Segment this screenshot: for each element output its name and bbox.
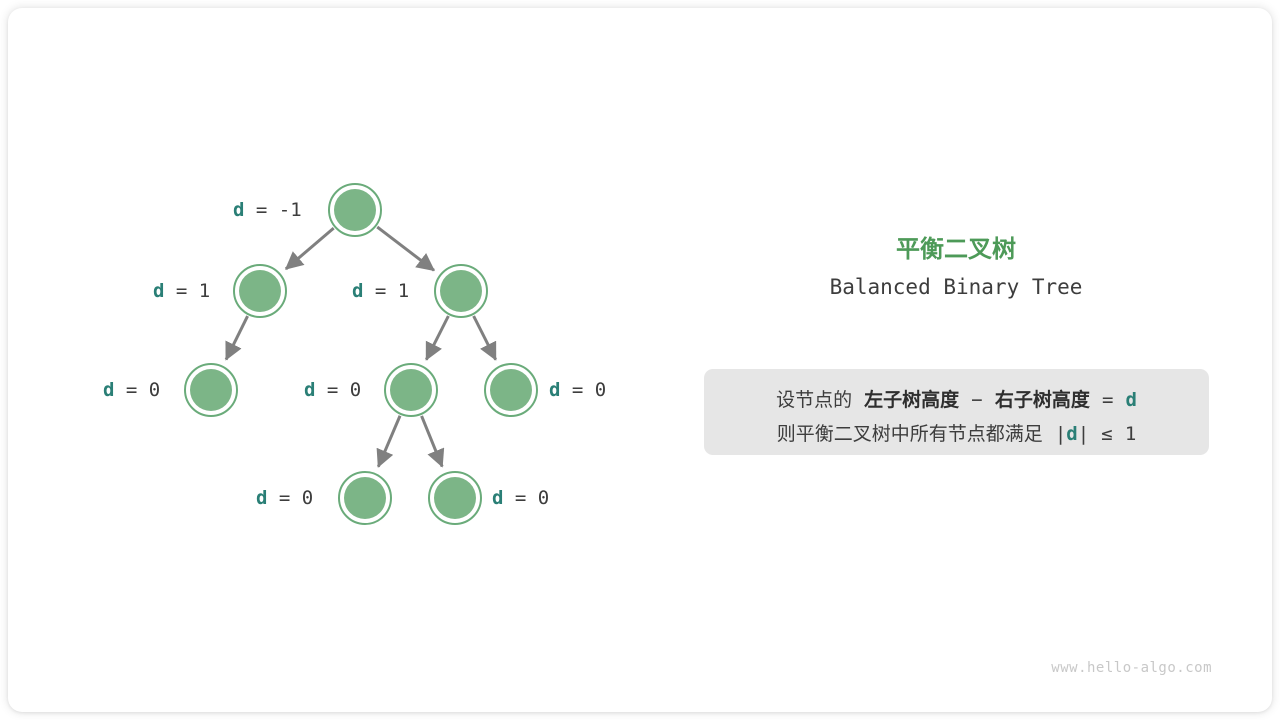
tree-edge <box>378 416 400 467</box>
balance-factor-variable: d <box>256 487 267 509</box>
panel-title-cn: 平衡二叉树 <box>698 236 1214 262</box>
less-or-equal-sign: ≤ <box>1101 423 1112 445</box>
tree-node-circle <box>490 369 532 411</box>
tree-node-circle <box>334 189 376 231</box>
definition-minus-sign: − <box>971 389 982 411</box>
balance-factor-variable: d <box>304 379 315 401</box>
balance-factor-variable: d <box>153 280 164 302</box>
definition-right-subtree-height: 右子树高度 <box>995 389 1090 411</box>
tree-svg-canvas <box>8 8 688 712</box>
definition-left-subtree-height: 左子树高度 <box>864 389 959 411</box>
tree-edge <box>286 228 334 269</box>
definition-variable-d: d <box>1125 389 1136 411</box>
balance-factor-variable: d <box>492 487 503 509</box>
balance-factor-value: = 0 <box>114 379 160 401</box>
node-balance-factor-label: d = 0 <box>549 381 606 400</box>
definition-variable-d-abs: d <box>1066 423 1077 445</box>
tree-node <box>385 364 437 416</box>
tree-edge <box>377 227 434 270</box>
tree-node-circle <box>239 270 281 312</box>
node-balance-factor-label: d = 0 <box>103 381 160 400</box>
tree-node-circle <box>434 477 476 519</box>
balance-factor-variable: d <box>352 280 363 302</box>
node-balance-factor-label: d = 0 <box>492 489 549 508</box>
tree-diagram: d = -1d = 1d = 1d = 0d = 0d = 0d = 0d = … <box>8 8 688 712</box>
balance-factor-value: = 0 <box>560 379 606 401</box>
tree-node <box>429 472 481 524</box>
balance-factor-value: = 0 <box>315 379 361 401</box>
definition-equals-sign: = <box>1102 389 1113 411</box>
node-balance-factor-label: d = 0 <box>256 489 313 508</box>
definition-line-2: 则平衡二叉树中所有节点都满足 |d| ≤ 1 <box>704 425 1209 444</box>
node-balance-factor-label: d = 0 <box>304 381 361 400</box>
abs-bar-close: | <box>1078 423 1089 445</box>
tree-node-circle <box>190 369 232 411</box>
content-card: d = -1d = 1d = 1d = 0d = 0d = 0d = 0d = … <box>8 8 1272 712</box>
balance-factor-variable: d <box>233 199 244 221</box>
balance-factor-value: = 0 <box>503 487 549 509</box>
tree-node <box>185 364 237 416</box>
balance-factor-value: = 1 <box>363 280 409 302</box>
balance-factor-value: = -1 <box>244 199 301 221</box>
screenshot-root: d = -1d = 1d = 1d = 0d = 0d = 0d = 0d = … <box>0 0 1280 720</box>
balance-factor-variable: d <box>549 379 560 401</box>
tree-node-circle <box>440 270 482 312</box>
definition-box: 设节点的 左子树高度 − 右子树高度 = d 则平衡二叉树中所有节点都满足 |d… <box>704 369 1209 455</box>
tree-node <box>435 265 487 317</box>
tree-node <box>339 472 391 524</box>
tree-node <box>329 184 381 236</box>
definition-prefix-1: 设节点的 <box>776 389 852 411</box>
tree-edge <box>226 316 247 359</box>
node-balance-factor-label: d = -1 <box>233 201 302 220</box>
balance-factor-value: = 0 <box>267 487 313 509</box>
abs-bar-open: | <box>1055 423 1066 445</box>
tree-node <box>485 364 537 416</box>
tree-node <box>234 265 286 317</box>
definition-prefix-2: 则平衡二叉树中所有节点都满足 <box>777 423 1043 445</box>
panel-title-en: Balanced Binary Tree <box>698 275 1214 300</box>
balance-factor-value: = 1 <box>164 280 210 302</box>
tree-edge <box>474 316 496 360</box>
definition-line-1: 设节点的 左子树高度 − 右子树高度 = d <box>704 391 1209 410</box>
node-balance-factor-label: d = 1 <box>153 282 210 301</box>
tree-edge <box>426 316 448 360</box>
tree-node-circle <box>344 477 386 519</box>
tree-edges <box>226 227 496 467</box>
info-panel: 平衡二叉树 Balanced Binary Tree 设节点的 左子树高度 − … <box>698 8 1228 712</box>
balance-factor-variable: d <box>103 379 114 401</box>
node-balance-factor-label: d = 1 <box>352 282 409 301</box>
tree-nodes <box>185 184 537 524</box>
tree-edge <box>422 416 443 467</box>
site-watermark: www.hello-algo.com <box>1051 660 1212 676</box>
definition-bound-value: 1 <box>1125 423 1136 445</box>
tree-node-circle <box>390 369 432 411</box>
